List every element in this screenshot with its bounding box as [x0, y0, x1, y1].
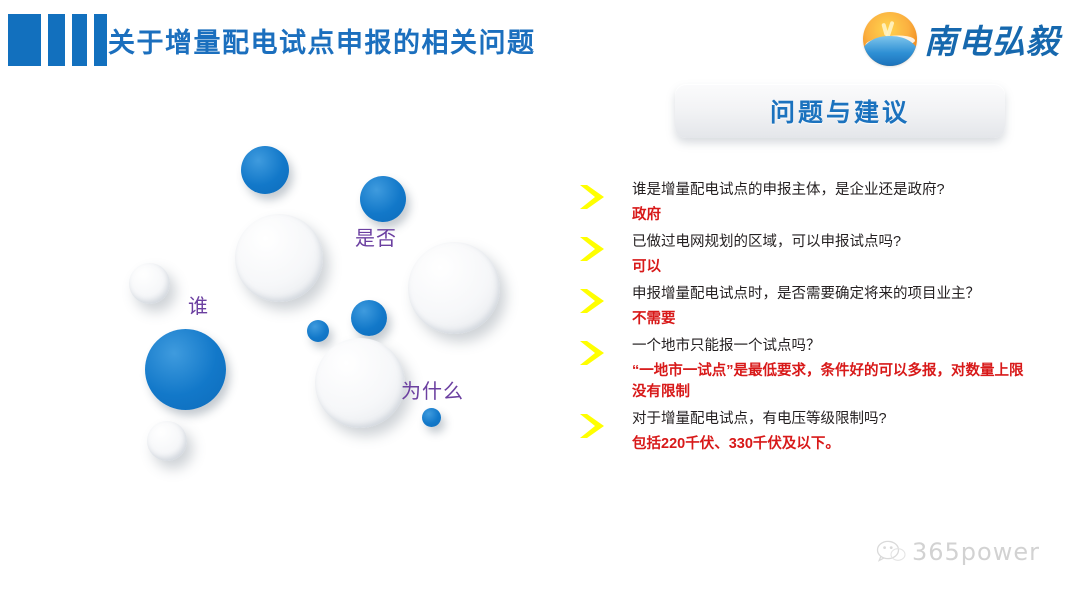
qa-answer: 包括220千伏、330千伏及以下。	[632, 434, 1080, 455]
watermark: 365power	[876, 538, 1040, 566]
bubble-white-bottom-center	[315, 338, 405, 428]
bubble-white-center	[235, 214, 323, 302]
page-title: 关于增量配电试点申报的相关问题	[108, 21, 536, 60]
qa-question: 一个地市只能报一个试点吗？	[632, 336, 1080, 357]
header-bar-3	[72, 14, 87, 66]
chevron-right-icon	[578, 412, 610, 440]
qa-list: 谁是增量配电试点的申报主体，是企业还是政府? 政府 已做过电网规划的区域，可以申…	[570, 180, 1080, 461]
qa-question: 对于增量配电试点，有电压等级限制吗?	[632, 409, 1080, 430]
bubble-blue-top	[241, 146, 289, 194]
wechat-icon	[876, 539, 906, 565]
qa-item: 谁是增量配电试点的申报主体，是企业还是政府? 政府	[570, 180, 1080, 226]
bubble-blue-small-mid	[307, 320, 329, 342]
header-bar-1	[8, 14, 41, 66]
header-bar-decoration	[8, 14, 114, 66]
bubble-illustration: 是否 谁 为什么	[95, 130, 525, 475]
qa-question: 已做过电网规划的区域，可以申报试点吗?	[632, 232, 1080, 253]
chevron-right-icon	[578, 235, 610, 263]
panel-banner: 问题与建议	[675, 84, 1005, 138]
qa-item: 对于增量配电试点，有电压等级限制吗? 包括220千伏、330千伏及以下。	[570, 409, 1080, 455]
bubble-blue-large	[145, 329, 226, 410]
bubble-blue-mid	[351, 300, 387, 336]
qa-item: 已做过电网规划的区域，可以申报试点吗? 可以	[570, 232, 1080, 278]
watermark-text: 365power	[912, 538, 1040, 566]
sun-wave-emblem-icon	[863, 12, 917, 66]
chevron-right-icon	[578, 339, 610, 367]
header-bar-2	[48, 14, 65, 66]
qa-panel: 问题与建议 谁是增量配电试点的申报主体，是企业还是政府? 政府 已做过电网规划的…	[570, 80, 1080, 600]
header-bar-4	[94, 14, 107, 66]
sun-ray-secondary-icon	[881, 22, 888, 36]
wave-icon	[863, 36, 917, 66]
qa-item: 一个地市只能报一个试点吗？ “一地市一试点”是最低要求，条件好的可以多报，对数量…	[570, 336, 1080, 403]
bubble-blue-small-lower	[422, 408, 441, 427]
chevron-right-icon	[578, 287, 610, 315]
bubble-white-left-small	[129, 263, 170, 304]
brand-name: 南电弘毅	[924, 15, 1060, 63]
bubble-blue-upper-right	[360, 176, 406, 222]
qa-question: 谁是增量配电试点的申报主体，是企业还是政府?	[632, 180, 1080, 201]
qa-answer: “一地市一试点”是最低要求，条件好的可以多报，对数量上限没有限制	[632, 361, 1032, 403]
bubble-label-shifou: 是否	[355, 222, 397, 251]
bubble-white-right	[408, 242, 500, 334]
qa-item: 申报增量配电试点时，是否需要确定将来的项目业主？ 不需要	[570, 284, 1080, 330]
panel-banner-title: 问题与建议	[770, 93, 910, 129]
chevron-right-icon	[578, 183, 610, 211]
qa-answer: 不需要	[632, 309, 1080, 330]
bubble-label-shui: 谁	[188, 290, 209, 319]
qa-question: 申报增量配电试点时，是否需要确定将来的项目业主？	[632, 284, 1080, 305]
brand-logo: 南电弘毅	[863, 8, 1068, 70]
qa-answer: 可以	[632, 257, 1080, 278]
qa-answer: 政府	[632, 205, 1080, 226]
slide-header: 关于增量配电试点申报的相关问题 南电弘毅	[0, 0, 1080, 78]
bubble-label-weishenme: 为什么	[401, 375, 464, 404]
bubble-white-bottom-left	[147, 421, 187, 461]
